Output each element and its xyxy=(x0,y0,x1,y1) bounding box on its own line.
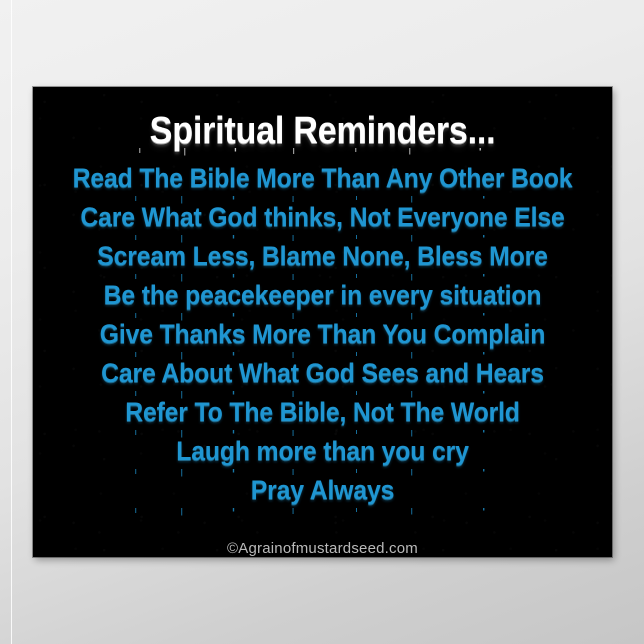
reminder-line-3: Scream Less, Blame None, Bless More xyxy=(56,237,589,276)
poster-text-block: Spiritual Reminders... Read The Bible Mo… xyxy=(33,87,612,557)
reminder-line-6: Care About What God Sees and Hears xyxy=(56,354,589,393)
reminder-line-4: Be the peacekeeper in every situation xyxy=(56,276,589,315)
poster-artwork-panel: Spiritual Reminders... Read The Bible Mo… xyxy=(33,87,612,557)
reminder-line-9: Pray Always xyxy=(56,471,589,510)
reminder-line-7: Refer To The Bible, Not The World xyxy=(56,393,589,432)
reminder-line-8: Laugh more than you cry xyxy=(56,432,589,471)
reminder-line-1: Read The Bible More Than Any Other Book xyxy=(56,159,589,198)
reminder-line-2: Care What God thinks, Not Everyone Else xyxy=(56,198,589,237)
poster-product-stage: Spiritual Reminders... Read The Bible Mo… xyxy=(0,0,644,644)
reminder-line-5: Give Thanks More Than You Complain xyxy=(56,315,589,354)
poster-credit-line: ©Agrainofmustardseed.com xyxy=(33,540,612,557)
poster-mat-edge xyxy=(11,0,12,644)
page-title: Spiritual Reminders... xyxy=(62,112,583,150)
